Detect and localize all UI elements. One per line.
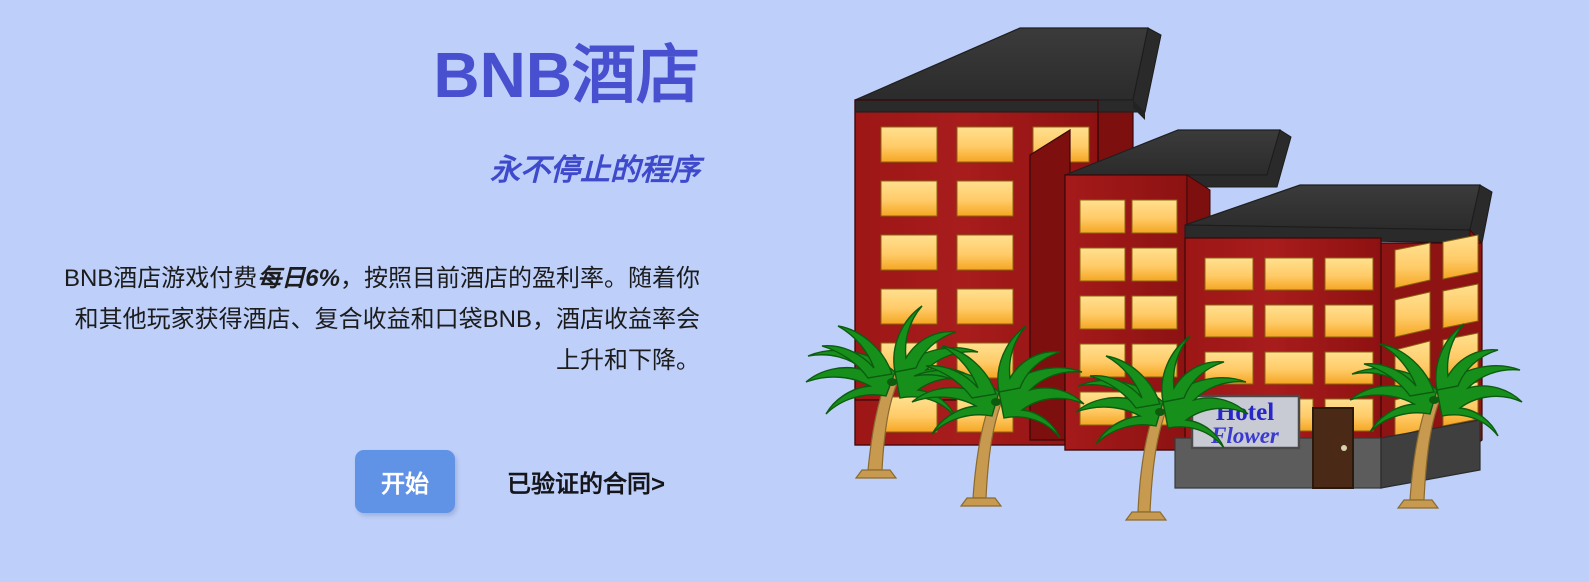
page-subtitle: 永不停止的程序 (0, 145, 700, 189)
description-highlight: 每日6% (257, 265, 340, 292)
hero-copy: BNB酒店 永不停止的程序 BNB酒店游戏付费每日6%，按照目前酒店的盈利率。随… (0, 0, 760, 582)
hero-description: BNB酒店游戏付费每日6%，按照目前酒店的盈利率。随着你和其他玩家获得酒店、复合… (55, 258, 700, 381)
right-building: Hotel Flower (1175, 185, 1492, 488)
verified-contract-link[interactable]: 已验证的合同> (507, 464, 665, 499)
start-button[interactable]: 开始 (355, 450, 455, 513)
page-title: BNB酒店 (0, 42, 700, 109)
description-pre: BNB酒店游戏付费 (64, 265, 257, 292)
hotel-buildings-illustration: Hotel Flower (780, 0, 1589, 582)
hero-banner: BNB酒店 永不停止的程序 BNB酒店游戏付费每日6%，按照目前酒店的盈利率。随… (0, 0, 1589, 582)
cta-row: 开始 已验证的合同> (355, 450, 665, 513)
